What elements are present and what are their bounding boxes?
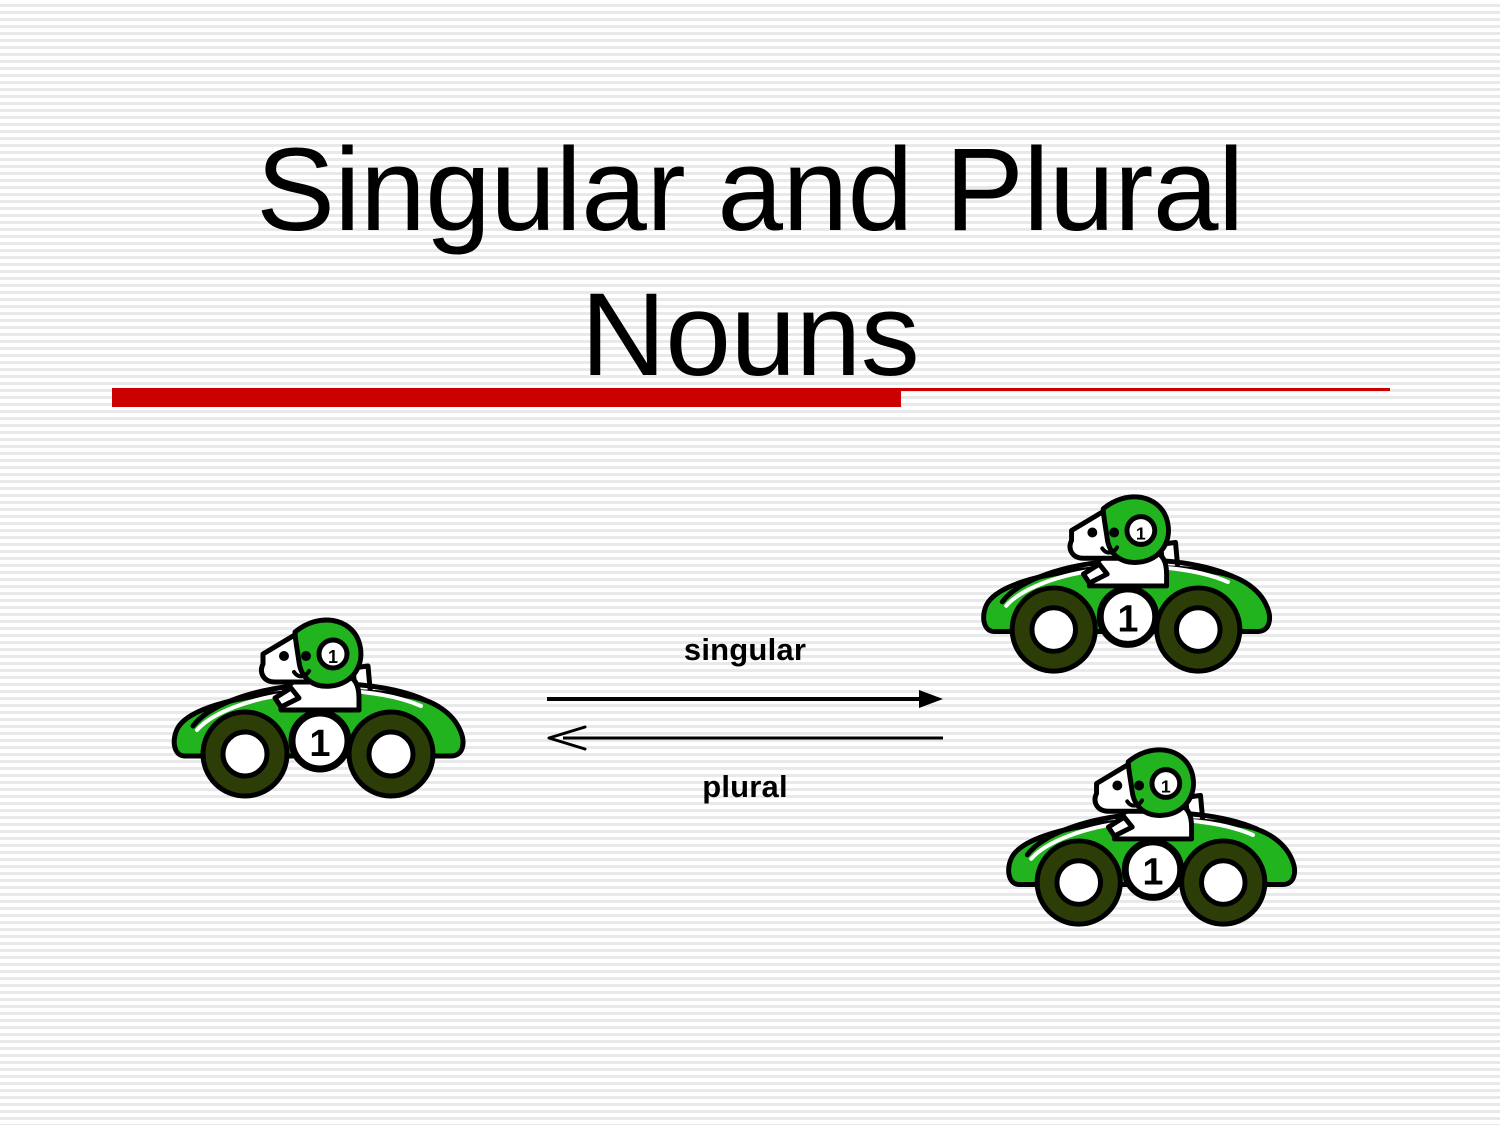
car-body-number: 1: [1118, 598, 1139, 640]
plural-arrow-label: plural: [545, 769, 945, 805]
car-helmet-number: 1: [1136, 523, 1146, 543]
race-car-plural-second: 1 1: [997, 736, 1305, 934]
singular-plural-arrow-diagram: singular plural: [545, 632, 945, 822]
race-car-singular: 1 1: [163, 606, 473, 806]
car-helmet-number: 1: [1161, 776, 1171, 796]
singular-arrow-label: singular: [545, 632, 945, 668]
car-body-number: 1: [1143, 851, 1164, 893]
divider-thick-bar: [112, 388, 901, 407]
race-car-plural-first: 1 1: [972, 483, 1280, 681]
page-title: Singular and Plural Nouns: [110, 118, 1390, 408]
singular-arrow-right-icon: [545, 686, 945, 712]
plural-arrow-left-icon: [545, 725, 945, 751]
car-helmet-number: 1: [328, 647, 338, 667]
slide-canvas: Singular and Plural Nouns: [0, 0, 1500, 1125]
car-body-number: 1: [309, 723, 330, 765]
title-divider: [112, 388, 1390, 408]
